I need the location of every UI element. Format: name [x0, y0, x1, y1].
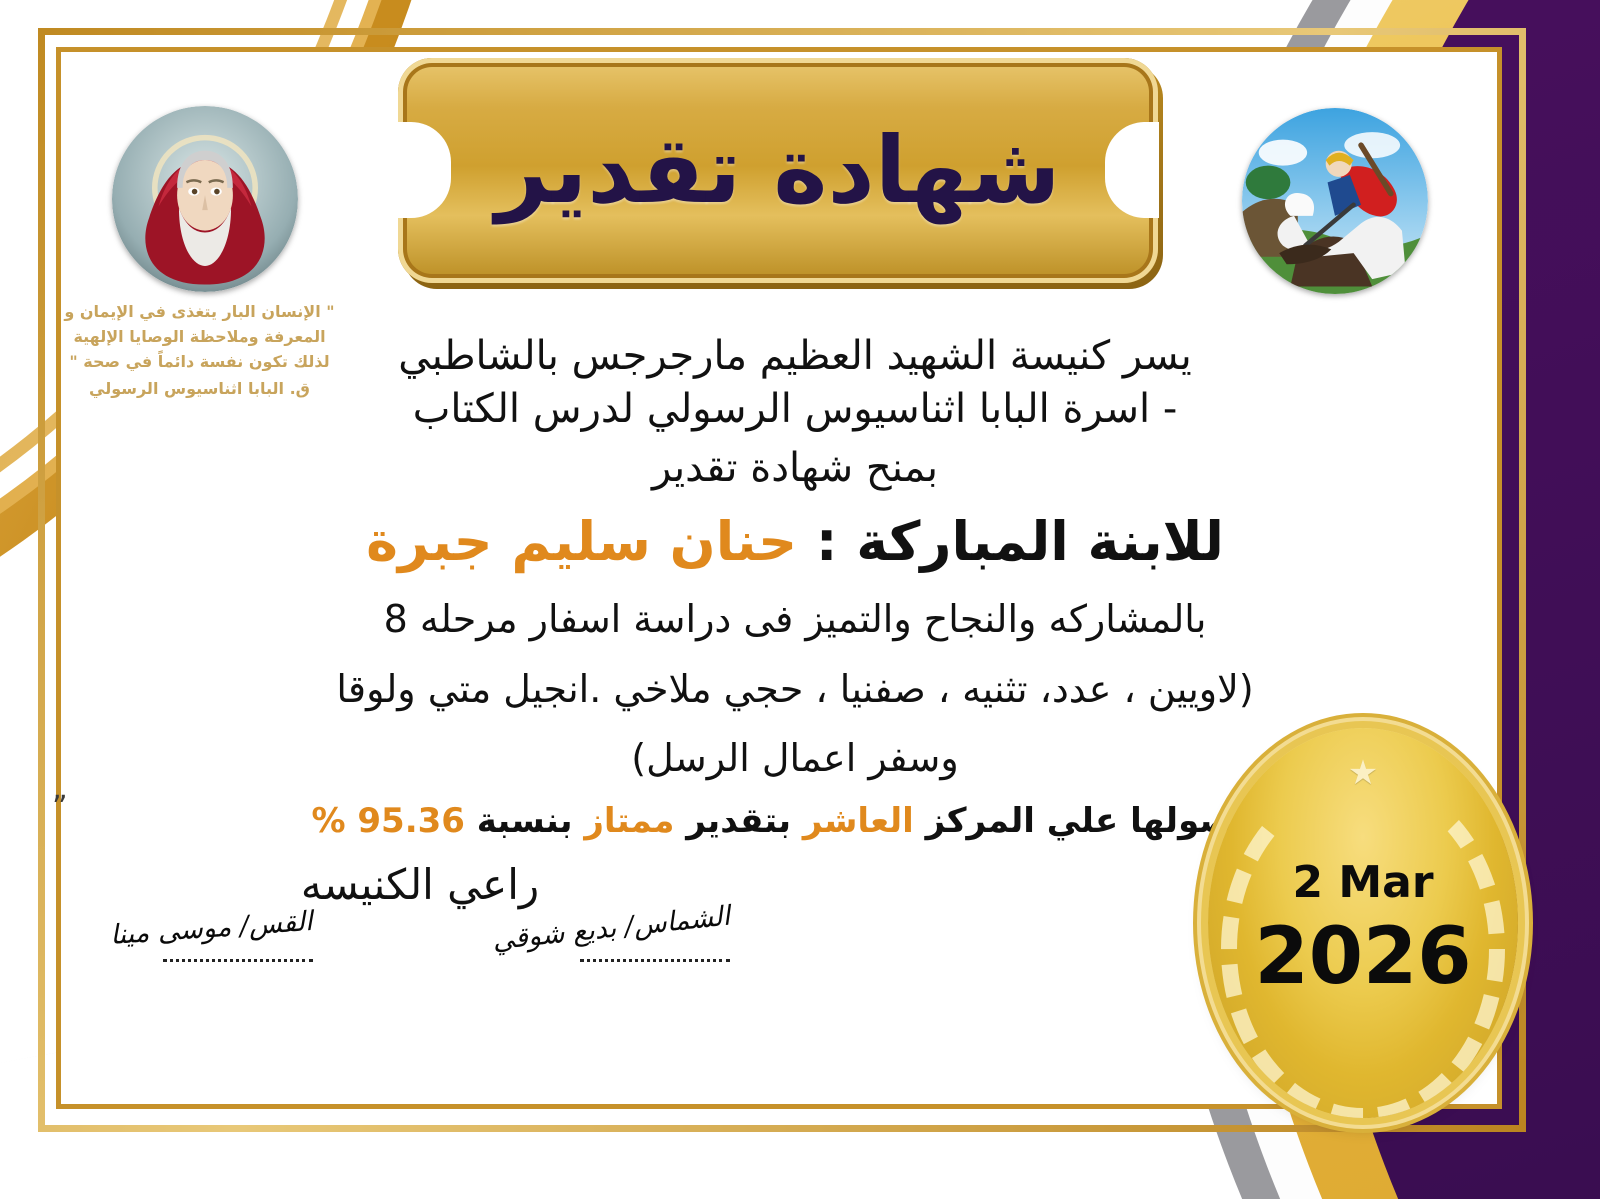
decorative-quote-glyph: ” [52, 790, 68, 825]
medal-date: 2 Mar [1292, 857, 1433, 908]
result-rank: العاشر [803, 801, 914, 841]
certificate-canvas: شهادة تقدير [0, 0, 1600, 1199]
saint-george-icon [1242, 108, 1428, 294]
intro-line-1: يسر كنيسة الشهيد العظيم مارجرجس بالشاطبي [180, 330, 1410, 383]
title-plaque: شهادة تقدير [398, 58, 1158, 283]
recipient-line: للابنة المباركة : حنان سليم جبرة [180, 508, 1410, 576]
signature-name-right: القس/ موسى مينا [109, 906, 313, 951]
title-plaque-face: شهادة تقدير [398, 58, 1158, 283]
signature-line-right [163, 958, 313, 962]
signature-role: راعي الكنيسه [110, 860, 730, 909]
medal-year: 2026 [1254, 918, 1471, 996]
page-title: شهادة تقدير [496, 117, 1061, 224]
details-line-3: وسفر اعمال الرسل) [180, 733, 1410, 785]
signature-line-left [580, 958, 730, 962]
star-icon: ★ [1348, 756, 1378, 790]
result-middle: بتقدير [686, 801, 791, 841]
intro-line-2: - اسرة البابا اثناسيوس الرسولي لدرس الكت… [180, 383, 1410, 436]
signature-row: الشماس/ بديع شوقي القس/ موسى مينا [110, 913, 730, 962]
signature-block: راعي الكنيسه الشماس/ بديع شوقي القس/ موس… [110, 860, 730, 962]
signature-right: القس/ موسى مينا [110, 913, 313, 962]
details-line-1: بالمشاركه والنجاح والتميز فى دراسة اسفار… [180, 594, 1410, 646]
saint-athanasius-icon [112, 106, 298, 292]
result-suffix: بنسبة [477, 801, 573, 841]
result-percentage: 95.36 % [311, 801, 464, 841]
signature-left: الشماس/ بديع شوقي [492, 913, 730, 962]
certificate-body: يسر كنيسة الشهيد العظيم مارجرجس بالشاطبي… [180, 330, 1410, 843]
date-medallion: ★ 2 Mar 2026 [1208, 728, 1518, 1118]
result-grade: ممتاز [584, 801, 674, 841]
recipient-name: حنان سليم جبرة [366, 510, 797, 573]
recipient-label: للابنة المباركة : [816, 510, 1224, 573]
details-line-2: (لاويين ، عدد، تثنيه ، صفنيا ، حجي ملاخي… [180, 664, 1410, 716]
grant-line: بمنح شهادة تقدير [180, 442, 1410, 495]
